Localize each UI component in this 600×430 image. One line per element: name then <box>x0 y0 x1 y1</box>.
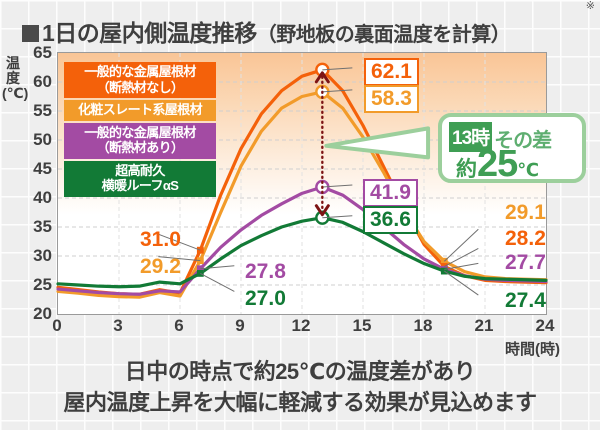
difference-callout-row-2: 約25℃ <box>456 143 539 186</box>
value-label-evening-orange: 29.1 <box>505 202 546 223</box>
legend-item-slate-line1: 化粧スレート系屋根材 <box>64 102 216 118</box>
x-tick-21: 21 <box>469 316 499 336</box>
x-tick-6: 6 <box>164 316 194 336</box>
x-tick-24: 24 <box>530 316 560 336</box>
title-parenthetical: （野地板の裏面温度を計算） <box>257 24 511 46</box>
x-tick-0: 0 <box>42 316 72 336</box>
y-tick-30: 30 <box>18 246 52 266</box>
legend-item-yokodan-roof-line2: 横暖ルーフαS <box>64 178 216 194</box>
value-label-peak-orange: 58.3 <box>364 85 419 113</box>
value-label-morning-red: 31.0 <box>140 229 181 250</box>
x-tick-12: 12 <box>286 316 316 336</box>
reference-asterisk: ※ <box>586 1 595 12</box>
value-label-peak-red: 62.1 <box>364 58 419 86</box>
y-tick-35: 35 <box>18 217 52 237</box>
difference-callout-unit: ℃ <box>517 160 539 180</box>
y-tick-40: 40 <box>18 188 52 208</box>
y-tick-45: 45 <box>18 159 52 179</box>
value-label-morning-purple: 27.8 <box>245 261 286 282</box>
x-tick-18: 18 <box>408 316 438 336</box>
legend-item-yokodan-roof[interactable]: 超高耐久 横暖ルーフαS <box>64 161 216 197</box>
legend-item-metal-with-insulation-line1: 一般的な金属屋根材 <box>64 125 216 141</box>
legend-item-slate[interactable]: 化粧スレート系屋根材 <box>64 100 216 121</box>
value-label-peak-green: 36.6 <box>363 206 418 234</box>
legend-item-metal-with-insulation[interactable]: 一般的な金属屋根材 （断熱材あり） <box>64 123 216 159</box>
y-tick-60: 60 <box>18 72 52 92</box>
bottom-caption-line-2: 屋内温度上昇を大幅に軽減する効果が見込めます <box>0 387 600 418</box>
title-main: 1日の屋内側温度推移 <box>42 20 257 46</box>
legend-item-yokodan-roof-line1: 超高耐久 <box>64 163 216 179</box>
y-tick-25: 25 <box>18 275 52 295</box>
x-tick-3: 3 <box>103 316 133 336</box>
y-tick-55: 55 <box>18 101 52 121</box>
value-label-peak-purple: 41.9 <box>363 179 418 207</box>
legend-item-metal-no-insulation-line2: （断熱材なし） <box>64 80 216 96</box>
y-tick-65: 65 <box>18 43 52 63</box>
difference-callout-approx: 約 <box>456 158 477 181</box>
difference-callout-value: 25 <box>477 143 517 185</box>
chart-legend: 一般的な金属屋根材 （断熱材なし） 化粧スレート系屋根材 一般的な金属屋根材 （… <box>64 62 216 199</box>
y-tick-50: 50 <box>18 130 52 150</box>
legend-item-metal-with-insulation-line2: （断熱材あり） <box>64 140 216 156</box>
page-title: 1日の屋内側温度推移（野地板の裏面温度を計算） <box>22 14 510 48</box>
title-bullet-square <box>22 25 39 42</box>
difference-callout: 13時その差 約25℃ <box>438 113 586 183</box>
legend-item-metal-no-insulation[interactable]: 一般的な金属屋根材 （断熱材なし） <box>64 62 216 98</box>
x-tick-9: 9 <box>225 316 255 336</box>
value-label-morning-orange: 29.2 <box>140 256 181 277</box>
value-label-evening-red: 28.2 <box>505 228 546 249</box>
bottom-caption: 日中の時点で約25℃の温度差があり 屋内温度上昇を大幅に軽減する効果が見込めます <box>0 356 600 418</box>
value-label-morning-green: 27.0 <box>245 288 286 309</box>
x-tick-15: 15 <box>347 316 377 336</box>
value-label-evening-purple: 27.7 <box>505 252 546 273</box>
legend-item-metal-no-insulation-line1: 一般的な金属屋根材 <box>64 64 216 80</box>
value-label-evening-green: 27.4 <box>505 290 546 311</box>
bottom-caption-line-1: 日中の時点で約25℃の温度差があり <box>0 356 600 387</box>
